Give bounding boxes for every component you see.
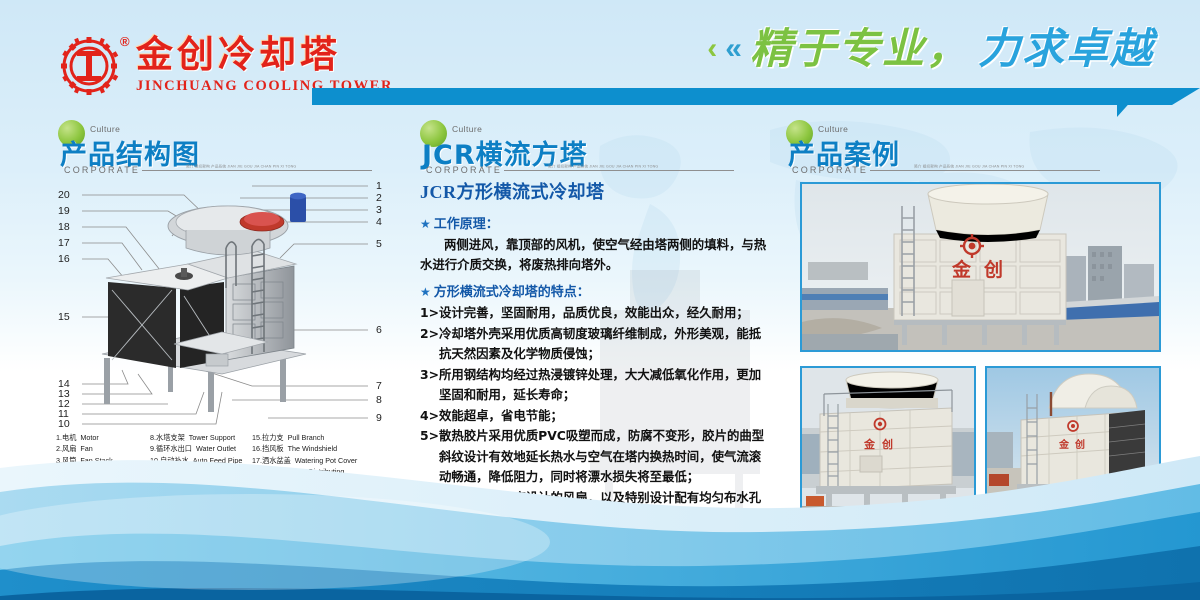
svg-text:创: 创	[881, 437, 893, 451]
section-corporate-label: CORPORATE	[64, 165, 140, 175]
cooling-tower-exploded-illustration	[56, 178, 396, 426]
header-band-tip	[1117, 88, 1143, 117]
item-number: 4>	[420, 406, 439, 427]
slogan-text-primary: 精于专业，	[750, 28, 970, 70]
callout-4: 4	[376, 216, 382, 228]
legend-no: 15.	[252, 433, 262, 442]
registered-mark: ®	[120, 34, 130, 49]
svg-text:金: 金	[951, 258, 972, 281]
header-slogan: ‹ « 精于专业， 力求卓越	[707, 28, 1154, 70]
star-icon: ★	[420, 217, 431, 231]
heading-text: 方形横流式冷却塔的特点：	[434, 285, 590, 300]
svg-text:创: 创	[983, 258, 1003, 281]
item-number: 3>	[420, 365, 439, 406]
product-structure-diagram: 20 19 18 17 16 15 14 13 12 11 10 1 2 3 4…	[56, 178, 396, 426]
callout-8: 8	[376, 394, 382, 406]
section-rule	[504, 170, 734, 171]
page-header: ® 金创冷却塔 JINCHUANG COOLING TOWER ‹ « 精于专业…	[0, 0, 1200, 104]
bottom-wave-decoration	[0, 450, 1200, 600]
star-icon: ★	[420, 285, 431, 299]
section-header-product-structure: Culture 产品结构图 CORPORATE 简介 组织架构 产品系统 JIA…	[58, 120, 398, 176]
chevron-left-single-icon: ‹	[707, 34, 717, 64]
list-item: 3>所用钢结构均经过热浸镀锌处理，大大减低氧化作用，更加坚固和耐用，延长寿命；	[420, 365, 772, 406]
item-number: 2>	[420, 324, 439, 365]
item-text: 冷却塔外壳采用优质高韧度玻璃纤维制成，外形美观，能抵抗天然因素及化学物质侵蚀；	[439, 324, 772, 365]
legend-en: Pull Branch	[284, 433, 325, 442]
list-item: 4>效能超卓，省电节能；	[420, 406, 772, 427]
section-header-product-cases: Culture 产品案例 CORPORATE 简介 组织架构 产品系统 JIAN…	[786, 120, 1126, 176]
legend-en: Tower Support	[185, 433, 235, 442]
section-corporate-label: CORPORATE	[792, 165, 868, 175]
callout-2: 2	[376, 192, 382, 204]
callout-3: 3	[376, 204, 382, 216]
header-blue-band	[312, 88, 1172, 105]
slogan-text-secondary: 力求卓越	[978, 28, 1154, 70]
item-text: 效能超卓，省电节能；	[439, 406, 772, 427]
section-corporate-label: CORPORATE	[426, 165, 502, 175]
section-rule	[870, 170, 1100, 171]
callout-6: 6	[376, 324, 382, 336]
article-heading-features: ★方形横流式冷却塔的特点：	[420, 281, 772, 300]
callout-9: 9	[376, 412, 382, 424]
legend-item: 8.水塔支架Tower Support	[150, 432, 250, 443]
item-number: 1>	[420, 303, 439, 324]
gear-logo-icon: ®	[58, 32, 124, 98]
brochure-page: ® 金创冷却塔 JINCHUANG COOLING TOWER ‹ « 精于专业…	[0, 0, 1200, 600]
item-text: 所用钢结构均经过热浸镀锌处理，大大减低氧化作用，更加坚固和耐用，延长寿命；	[439, 365, 772, 406]
section-header-jcr-cross-flow: Culture JCR横流方塔 CORPORATE 简介 组织架构 产品系统 J…	[420, 120, 760, 176]
list-item: 2>冷却塔外壳采用优质高韧度玻璃纤维制成，外形美观，能抵抗天然因素及化学物质侵蚀…	[420, 324, 772, 365]
section-tiny-text: 简介 组织架构 产品系统 JIAN JIE GOU JIA CHAN PIN X…	[186, 164, 296, 169]
legend-item: 15.拉力支Pull Branch	[252, 432, 402, 443]
callout-18: 18	[58, 221, 70, 233]
legend-en: Motor	[76, 433, 98, 442]
article-title: JCR方形横流式冷却塔	[420, 178, 772, 204]
callout-20: 20	[58, 189, 70, 201]
callout-1: 1	[376, 180, 382, 192]
photo-tower-rooftop[interactable]: 金创	[800, 182, 1161, 352]
callout-19: 19	[58, 205, 70, 217]
legend-cn: 拉力支	[262, 433, 284, 442]
section-tiny-text: 简介 组织架构 产品系统 JIAN JIE GOU JIA CHAN PIN X…	[548, 164, 658, 169]
list-item: 1>设计完善，坚固耐用，品质优良，效能出众，经久耐用；	[420, 303, 772, 324]
section-rule	[142, 170, 372, 171]
item-text: 设计完善，坚固耐用，品质优良，效能出众，经久耐用；	[439, 303, 772, 324]
callout-16: 16	[58, 253, 70, 265]
legend-item: 1.电机Motor	[56, 432, 148, 443]
callout-17: 17	[58, 237, 70, 249]
chevron-left-double-icon: «	[725, 34, 742, 64]
svg-text:金: 金	[863, 437, 876, 451]
legend-cn: 电机	[62, 433, 76, 442]
callout-10: 10	[58, 418, 70, 430]
legend-cn: 水塔支架	[156, 433, 185, 442]
callout-5: 5	[376, 238, 382, 250]
logo-chinese-name: 金创冷却塔	[136, 36, 393, 73]
callout-15: 15	[58, 311, 70, 323]
article-heading-principle: ★工作原理：	[420, 213, 772, 232]
heading-text: 工作原理：	[434, 217, 499, 232]
article-paragraph-principle: 两侧进风，靠顶部的风机，使空气经由塔两侧的填料，与热水进行介质交换，将废热排向塔…	[420, 235, 772, 275]
section-tiny-text: 简介 组织架构 产品系统 JIAN JIE GOU JIA CHAN PIN X…	[914, 164, 1024, 169]
callout-7: 7	[376, 380, 382, 392]
